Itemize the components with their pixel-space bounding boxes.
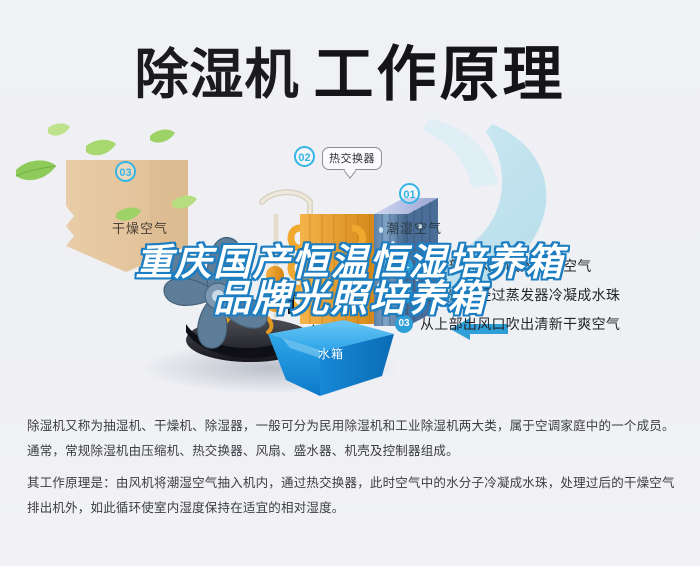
- step-number-2: 02: [395, 286, 413, 304]
- badge-03: 03: [115, 161, 136, 182]
- title-part-1: 除湿机: [135, 45, 300, 105]
- step-item-2: 02 潮湿空气经过蒸发器冷凝成水珠: [395, 285, 695, 305]
- label-dry-air: 干燥空气: [112, 218, 168, 237]
- step-item-3: 03 从上部出风口吹出清新干爽空气: [395, 314, 695, 334]
- label-water-tank: 水箱: [318, 345, 344, 362]
- step-list: 01 由下部进风口吸入潮湿空气 02 潮湿空气经过蒸发器冷凝成水珠 03 从上部…: [395, 256, 695, 343]
- step-number-3: 03: [395, 315, 413, 333]
- step-text-1: 由下部进风口吸入潮湿空气: [420, 256, 592, 276]
- label-humid-air: 潮湿空气: [386, 218, 442, 237]
- badge-01: 01: [399, 183, 420, 204]
- body-copy: 除湿机又称为抽湿机、干燥机、除湿器，一般可分为民用除湿机和工业除湿机两大类，属于…: [27, 416, 675, 523]
- heat-exchanger-callout: 热交换器: [322, 147, 382, 170]
- paragraph-1-line-2: 通常，常规除湿机由压缩机、热交换器、风扇、盛水器、机壳及控制器组成。: [27, 441, 675, 461]
- step-item-1: 01 由下部进风口吸入潮湿空气: [395, 256, 695, 276]
- step-text-3: 从上部出风口吹出清新干爽空气: [420, 314, 620, 334]
- badge-02: 02: [294, 146, 315, 167]
- paragraph-2-line-2: 排出机外，如此循环使室内湿度保持在适宜的相对湿度。: [27, 498, 675, 518]
- paragraph-1-line-1: 除湿机又称为抽湿机、干燥机、除湿器，一般可分为民用除湿机和工业除湿机两大类，属于…: [27, 416, 675, 436]
- step-number-1: 01: [395, 257, 413, 275]
- compressor-coil-assembly: [262, 192, 374, 324]
- title-part-2: 工作原理: [314, 41, 566, 108]
- poster-canvas: 除湿机工作原理: [0, 0, 700, 566]
- paragraph-2-line-1: 其工作原理是：由风机将潮湿空气抽入机内，通过热交换器，此时空气中的水分子冷凝成水…: [27, 473, 675, 493]
- step-text-2: 潮湿空气经过蒸发器冷凝成水珠: [420, 285, 620, 305]
- page-title: 除湿机工作原理: [0, 26, 700, 113]
